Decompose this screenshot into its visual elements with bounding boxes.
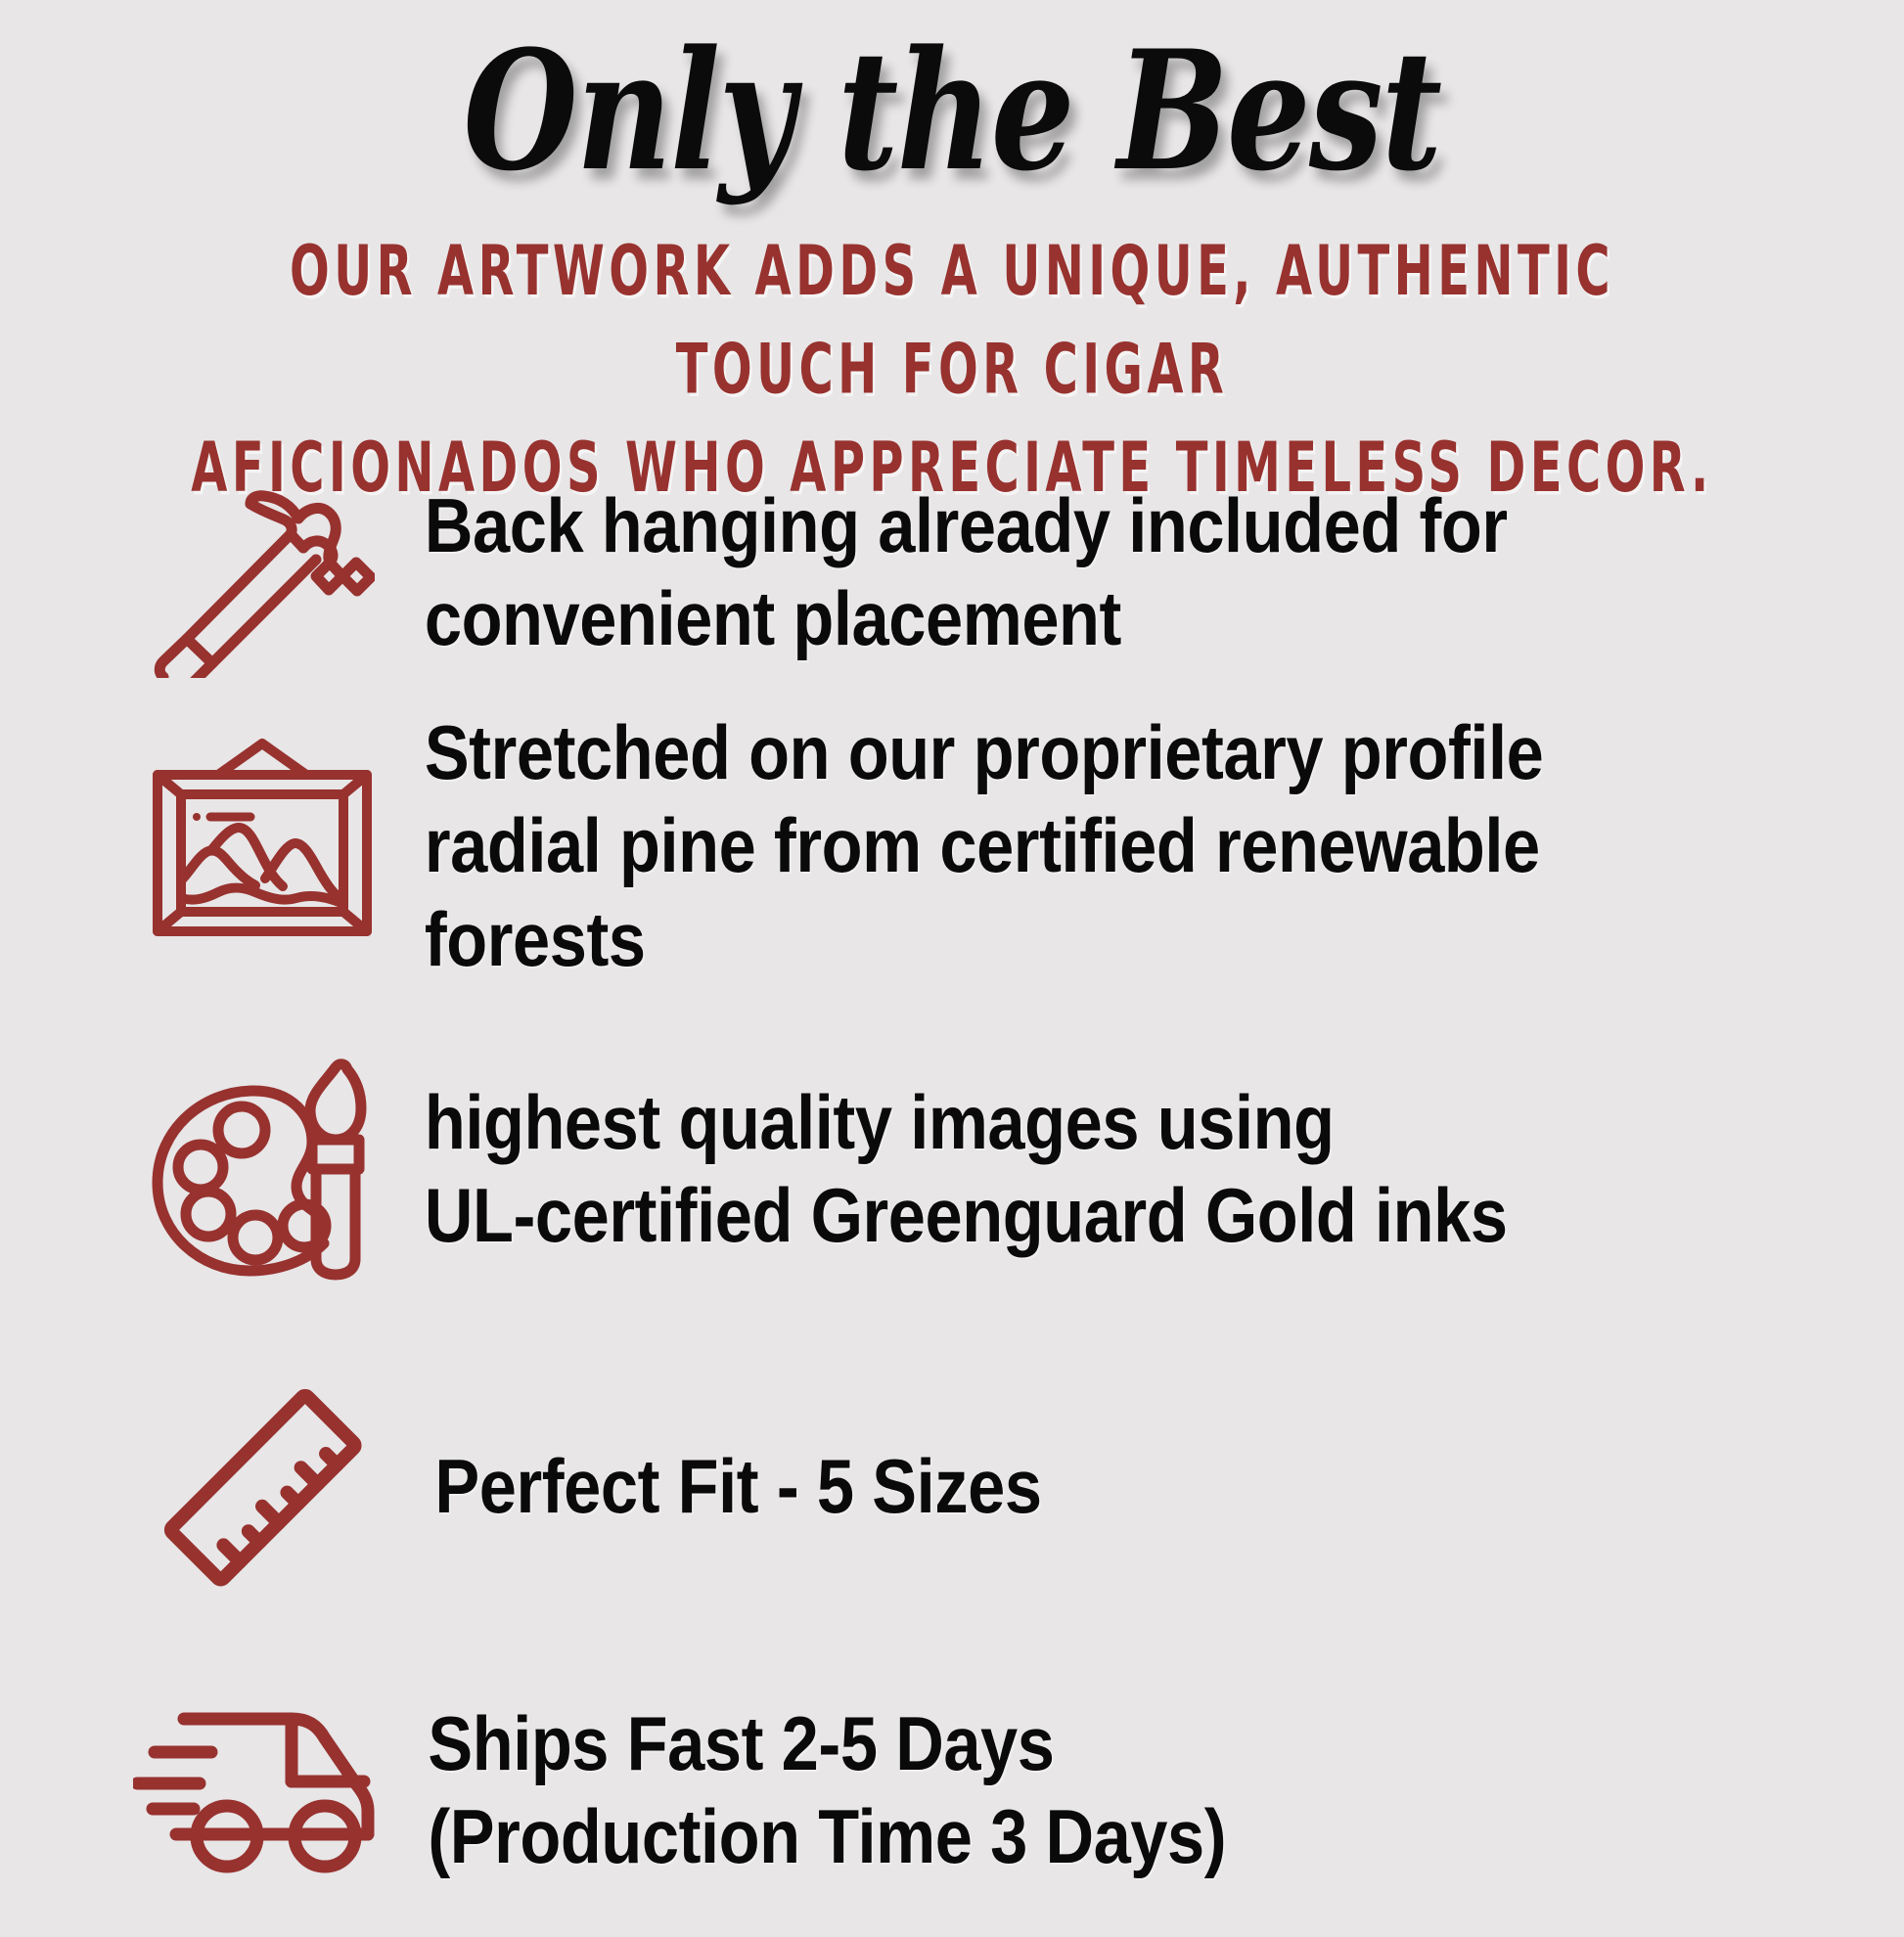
feature-item-stretched-pine: Stretched on our proprietary profile rad… (0, 685, 1904, 1008)
feature-text-line-2: UL-certified Greenguard Gold inks (425, 1169, 1691, 1262)
feature-text-line-1: Ships Fast 2-5 Days (428, 1697, 1690, 1790)
feature-icon-cell (115, 1052, 409, 1286)
feature-item-back-hanging: Back hanging already included for conven… (0, 460, 1904, 685)
page-subtitle-line-1: Our artwork adds a unique, authentic tou… (290, 231, 1614, 410)
feature-icon-cell (115, 1370, 409, 1604)
hammer-icon (150, 468, 375, 678)
feature-item-greenguard-inks: highest quality images using UL-certifie… (0, 1008, 1904, 1330)
feature-text: Back hanging already included for conven… (409, 479, 1725, 665)
ruler-icon (143, 1370, 383, 1604)
feature-text: Perfect Fit - 5 Sizes (409, 1440, 1725, 1533)
feature-text-line-1: highest quality images using (425, 1076, 1691, 1169)
feature-text: Stretched on our proprietary profile rad… (409, 706, 1725, 985)
feature-list: Back hanging already included for conven… (0, 460, 1904, 1937)
feature-item-ships-fast: Ships Fast 2-5 Days (Production Time 3 D… (0, 1644, 1904, 1937)
feature-text: Ships Fast 2-5 Days (Production Time 3 D… (409, 1697, 1725, 1883)
page-title: Only the Best (191, 27, 1714, 195)
promo-graphic: Only the Best Our artwork adds a unique,… (0, 0, 1904, 1904)
delivery-truck-icon (133, 1697, 392, 1883)
framed-picture-icon (140, 734, 385, 959)
feature-icon-cell (115, 468, 409, 678)
feature-text-line-2: (Production Time 3 Days) (428, 1790, 1690, 1883)
feature-icon-cell (115, 734, 409, 959)
feature-icon-cell (115, 1697, 409, 1883)
feature-item-perfect-fit: Perfect Fit - 5 Sizes (0, 1330, 1904, 1644)
feature-text: highest quality images using UL-certifie… (409, 1076, 1725, 1262)
paint-palette-icon (140, 1052, 385, 1286)
